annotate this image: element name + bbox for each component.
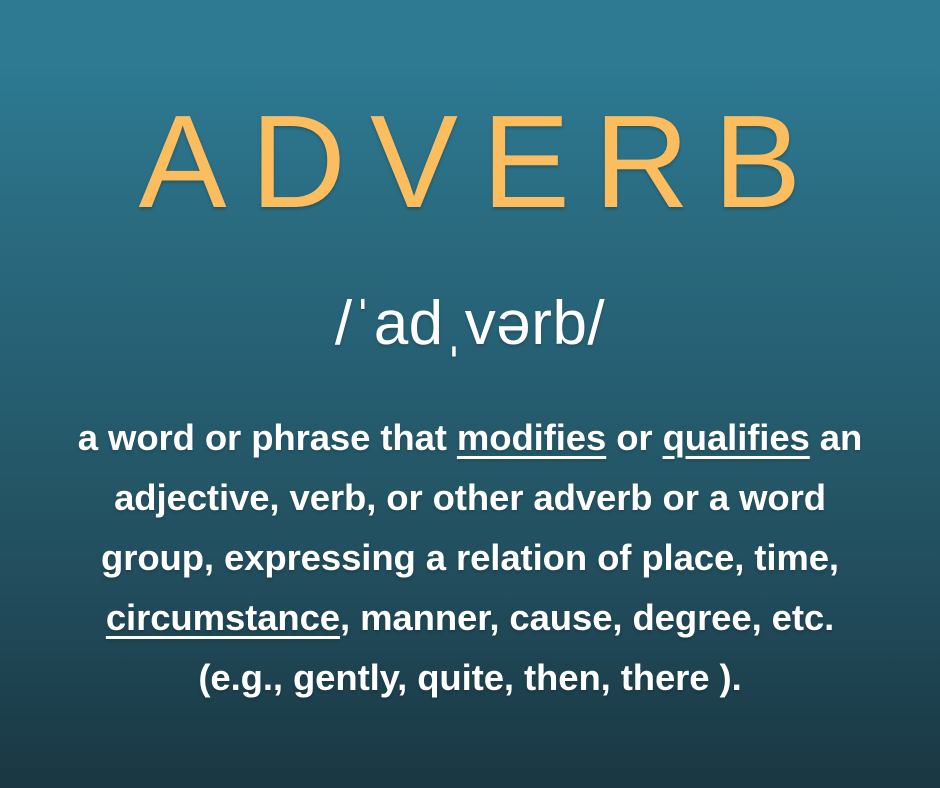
definition-card: ADVERB /ˈadˌvərb/ a word or phrase that … xyxy=(0,0,940,788)
definition-line: adjective, verb, or other adverb or a wo… xyxy=(24,468,916,528)
definition-run: group, expressing a relation of place, t… xyxy=(101,537,839,578)
definition-run: a word or phrase that xyxy=(78,417,457,458)
definition-line: group, expressing a relation of place, t… xyxy=(24,528,916,588)
definition-run: adjective, verb, or other adverb or a wo… xyxy=(114,477,826,518)
definition-run: an xyxy=(810,417,862,458)
definition-run: , manner, cause, degree, etc. xyxy=(340,597,834,638)
phonetic-container: /ˈadˌvərb/ xyxy=(0,291,940,356)
definition-text: a word or phrase that modifies or qualif… xyxy=(24,408,916,708)
headline-container: ADVERB xyxy=(0,96,940,228)
page-title: ADVERB xyxy=(0,96,940,228)
definition-keyword: modifies xyxy=(457,417,606,458)
definition-run: (e.g., gently, quite, then, there ). xyxy=(198,657,741,698)
definition-line: a word or phrase that modifies or qualif… xyxy=(24,408,916,468)
definition-run: or xyxy=(606,417,662,458)
definition-keyword: qualifies xyxy=(663,417,810,458)
phonetic-transcription: /ˈadˌvərb/ xyxy=(0,291,940,356)
definition-keyword: circumstance xyxy=(106,597,340,638)
definition-line: (e.g., gently, quite, then, there ). xyxy=(24,648,916,708)
definition-line: circumstance, manner, cause, degree, etc… xyxy=(24,588,916,648)
